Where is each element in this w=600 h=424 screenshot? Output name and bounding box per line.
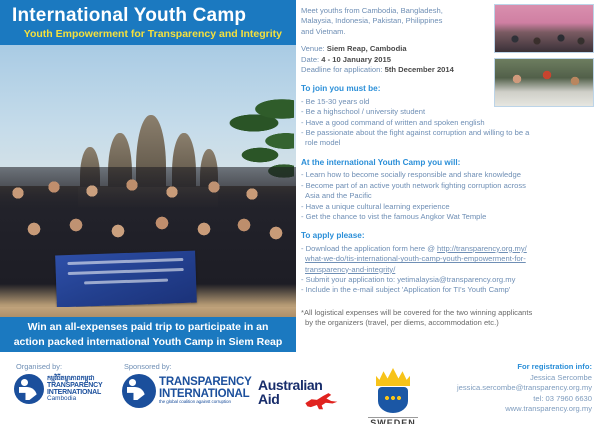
caption-line-1: Win an all-expenses paid trip to partici…	[0, 320, 296, 335]
left-column: International Youth Camp Youth Empowerme…	[0, 0, 296, 352]
apply-download-prefix: - Download the application form here @	[301, 244, 437, 253]
intro-line-3: and Vietnam.	[301, 27, 485, 37]
registration-email[interactable]: jessica.sercombe@transparency.org.my	[457, 383, 592, 394]
caption-banner: Win an all-expenses paid trip to partici…	[0, 317, 296, 352]
intro-line-2: Malaysia, Indonesia, Pakistan, Philippin…	[301, 16, 485, 26]
banner-text-line	[67, 258, 183, 265]
apply-submit-line: - Submit your application to: yetimalays…	[301, 275, 597, 285]
intro-paragraph: Meet youths from Cambodia, Bangladesh, M…	[301, 6, 485, 37]
date-label: Date:	[301, 55, 319, 65]
intro-line-1: Meet youths from Cambodia, Bangladesh,	[301, 6, 485, 16]
transparency-international-icon	[122, 374, 156, 408]
poster-header: International Youth Camp Youth Empowerme…	[0, 0, 296, 45]
australian-aid-logo: Australian Aid	[258, 378, 322, 406]
ti-name-line-1: TRANSPARENCY	[47, 382, 102, 389]
transparency-international-icon	[14, 374, 44, 404]
venue-row: Venue: Siem Reap, Cambodia	[301, 44, 511, 54]
venue-value: Siem Reap, Cambodia	[327, 44, 407, 53]
three-crowns-shield-icon	[378, 387, 408, 413]
ti-cambodia-logo: កម្មវិធីតម្លាភាពកម្ពុជា TRANSPARENCY INT…	[14, 374, 102, 404]
footer-bar: Organised by: Sponsored by: កម្មវិធីតម្ល…	[0, 356, 600, 424]
venue-label: Venue:	[301, 44, 325, 54]
crown-icon	[376, 368, 410, 386]
deadline-label: Deadline for application:	[301, 65, 382, 75]
requirement-item: - Be a highschool / university student	[301, 107, 597, 117]
group-photo-angkor-wat	[0, 45, 296, 317]
organised-by-label: Organised by:	[16, 362, 62, 371]
deadline-value: 5th December 2014	[385, 65, 454, 74]
requirements-heading: To join you must be:	[301, 84, 597, 94]
registration-info: For registration info: Jessica Sercombe …	[457, 362, 592, 415]
page-title: International Youth Camp	[12, 5, 286, 27]
caption-line-2: action packed international Youth Camp i…	[0, 335, 296, 350]
apply-url-line-3: transparency-and-integrity/	[301, 265, 597, 275]
banner-text-line	[68, 268, 184, 275]
benefit-item: - Have a unique cultural learning experi…	[301, 202, 597, 212]
sweden-logo: SWEDEN	[360, 368, 426, 424]
page-subtitle: Youth Empowerment for Transparency and I…	[12, 27, 286, 41]
apply-heading: To apply please:	[301, 231, 597, 241]
registration-website[interactable]: www.transparency.org.my	[457, 404, 592, 415]
requirements-section: To join you must be: - Be 15-30 years ol…	[301, 84, 597, 148]
camp-banner	[55, 251, 197, 308]
benefit-item-cont: Asia and the Pacific	[301, 191, 597, 201]
logistics-note: *All logistical expenses will be covered…	[301, 308, 597, 329]
apply-subject-line: - Include in the e-mail subject 'Applica…	[301, 285, 597, 295]
ti-cambodia-wordmark: កម្មវិធីតម្លាភាពកម្ពុជា TRANSPARENCY INT…	[47, 376, 102, 403]
ti-tagline: the global coalition against corruption	[159, 400, 252, 405]
australian-aid-line-1: Australian	[258, 378, 322, 392]
date-value: 4 - 10 January 2015	[321, 55, 391, 64]
sweden-label: SWEDEN	[368, 417, 418, 424]
benefit-item: - Learn how to become socially responsib…	[301, 170, 597, 180]
registration-contact-name: Jessica Sercombe	[457, 373, 592, 384]
requirement-item-cont: role model	[301, 138, 597, 148]
transparency-international-logo: TRANSPARENCY INTERNATIONAL the global co…	[122, 374, 252, 408]
apply-download-line: - Download the application form here @ h…	[301, 244, 597, 254]
apply-url-line-2: what-we-do/tis-international-youth-camp-…	[301, 254, 597, 264]
requirement-item: - Be 15-30 years old	[301, 97, 597, 107]
application-form-link[interactable]: http://transparency.org.my/	[437, 244, 527, 253]
benefit-item: - Get the chance to vist the famous Angk…	[301, 212, 597, 222]
event-details: Venue: Siem Reap, Cambodia Date: 4 - 10 …	[301, 44, 511, 75]
ti-wordmark: TRANSPARENCY INTERNATIONAL the global co…	[159, 377, 252, 405]
ti-country: Cambodia	[47, 396, 102, 402]
registration-tel: tel: 03 7960 6630	[457, 394, 592, 405]
application-form-link-cont[interactable]: transparency-and-integrity/	[305, 265, 395, 274]
banner-text-line	[84, 279, 168, 285]
application-form-link-cont[interactable]: what-we-do/tis-international-youth-camp-…	[305, 254, 526, 263]
deadline-row: Deadline for application: 5th December 2…	[301, 65, 511, 75]
date-row: Date: 4 - 10 January 2015	[301, 55, 511, 65]
benefits-heading: At the international Youth Camp you will…	[301, 158, 597, 168]
note-line-1: *All logistical expenses will be covered…	[301, 308, 597, 318]
poster: International Youth Camp Youth Empowerme…	[0, 0, 600, 424]
ground	[0, 307, 296, 317]
right-column: Meet youths from Cambodia, Bangladesh, M…	[301, 6, 597, 354]
requirement-item: - Have a good command of written and spo…	[301, 118, 597, 128]
sponsored-by-label: Sponsored by:	[124, 362, 172, 371]
ti-name-line-1: TRANSPARENCY	[159, 377, 252, 389]
benefit-item: - Become part of an active youth network…	[301, 181, 597, 191]
apply-section: To apply please: - Download the applicat…	[301, 231, 597, 295]
registration-heading: For registration info:	[457, 362, 592, 373]
note-line-2: by the organizers (travel, per diems, ac…	[301, 318, 597, 328]
benefits-section: At the international Youth Camp you will…	[301, 158, 597, 222]
requirement-item: - Be passionate about the fight against …	[301, 128, 597, 138]
